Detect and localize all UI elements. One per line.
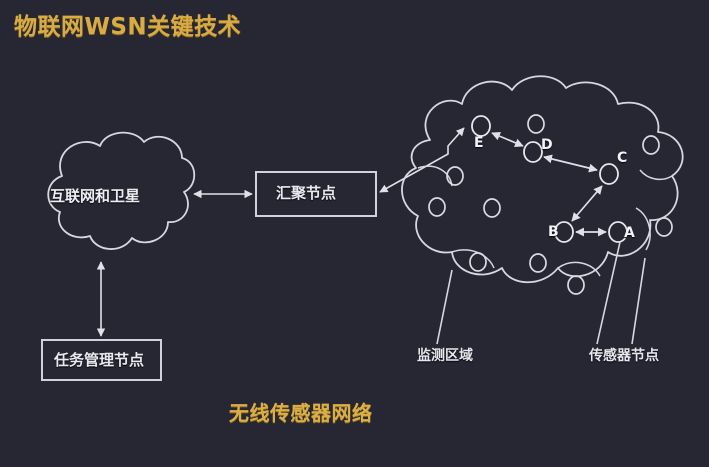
leader-monitoring-area <box>437 270 452 344</box>
slide-canvas: 物联网WSN关键技术 无线传感器网络 互联网和卫星 汇聚节点 任务管理节点 监测… <box>0 0 709 467</box>
routing-links <box>492 133 606 232</box>
task-manager-box[interactable] <box>42 340 161 380</box>
internet-cloud <box>48 133 194 249</box>
unlabeled-sensor-nodes <box>429 115 672 294</box>
sink-node-box[interactable] <box>256 172 376 216</box>
leader-sensor-node-a <box>597 242 620 344</box>
wsn-diagram <box>0 0 709 467</box>
callout-leader-lines <box>437 242 645 344</box>
link-E-D <box>492 133 523 146</box>
leader-sensor-node-b <box>632 258 645 344</box>
link-D-C <box>544 157 597 170</box>
link-C-B <box>572 186 602 221</box>
node-D-circle <box>524 142 542 162</box>
monitoring-area-cloud <box>402 76 683 282</box>
node-B-circle <box>555 222 573 242</box>
node-A-circle <box>609 222 627 242</box>
node-E-circle <box>472 116 490 136</box>
node-C-circle <box>600 164 618 184</box>
